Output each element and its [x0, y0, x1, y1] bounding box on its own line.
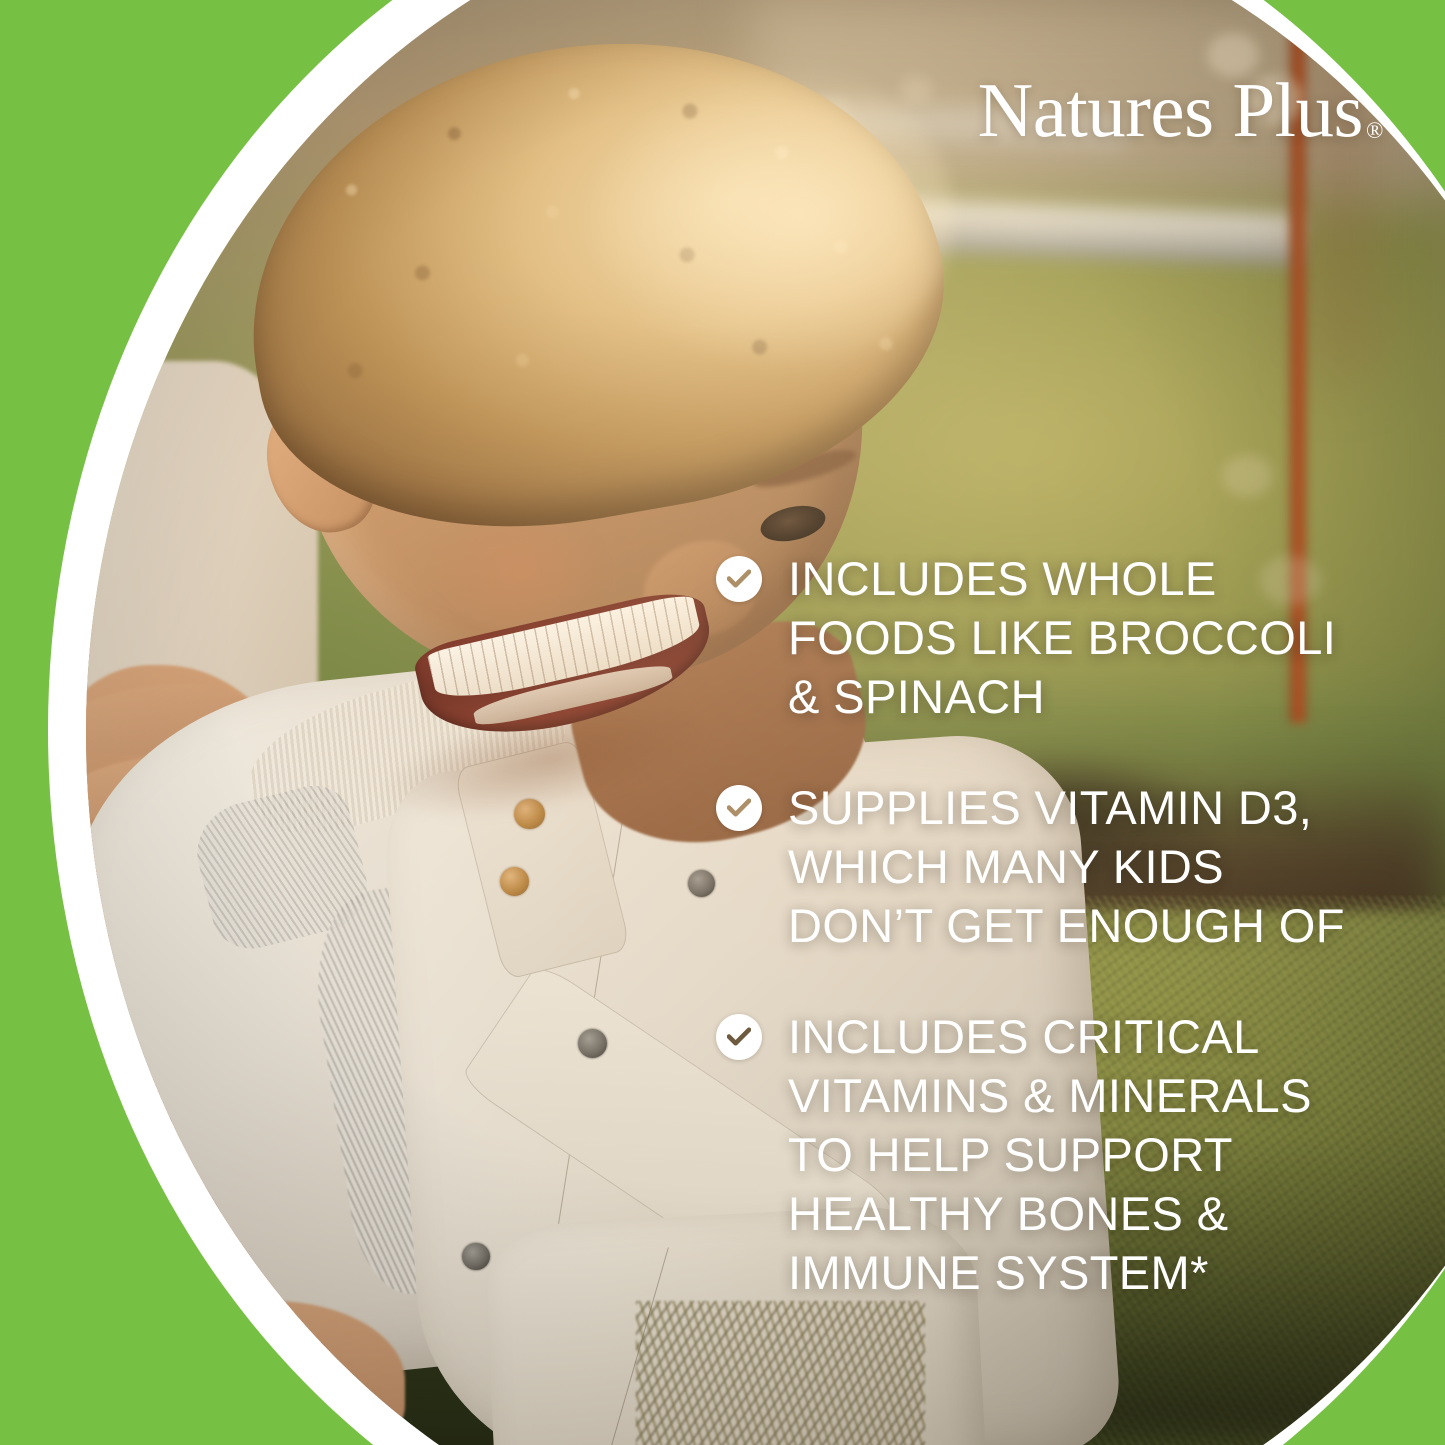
list-item: INCLUDES CRITICAL VITAMINS & MINERALS TO…: [716, 1007, 1416, 1302]
benefit-text: INCLUDES CRITICAL VITAMINS & MINERALS TO…: [788, 1007, 1312, 1302]
benefit-text: SUPPLIES VITAMIN D3, WHICH MANY KIDS DON…: [788, 778, 1345, 955]
check-circle-icon: [716, 556, 762, 602]
registered-trademark-icon: ®: [1366, 118, 1383, 143]
list-item: SUPPLIES VITAMIN D3, WHICH MANY KIDS DON…: [716, 778, 1416, 955]
list-item: INCLUDES WHOLE FOODS LIKE BROCCOLI & SPI…: [716, 549, 1416, 726]
brand-name: Natures Plus: [978, 67, 1363, 153]
benefit-text: INCLUDES WHOLE FOODS LIKE BROCCOLI & SPI…: [788, 549, 1336, 726]
overlay-content: Natures Plus® INCLUDES WHOLE FOODS LIKE …: [0, 0, 1445, 1445]
check-circle-icon: [716, 785, 762, 831]
brand-logo: Natures Plus®: [978, 72, 1383, 149]
benefits-list: INCLUDES WHOLE FOODS LIKE BROCCOLI & SPI…: [716, 549, 1416, 1302]
check-circle-icon: [716, 1014, 762, 1060]
promo-banner: Natures Plus® INCLUDES WHOLE FOODS LIKE …: [0, 0, 1445, 1445]
